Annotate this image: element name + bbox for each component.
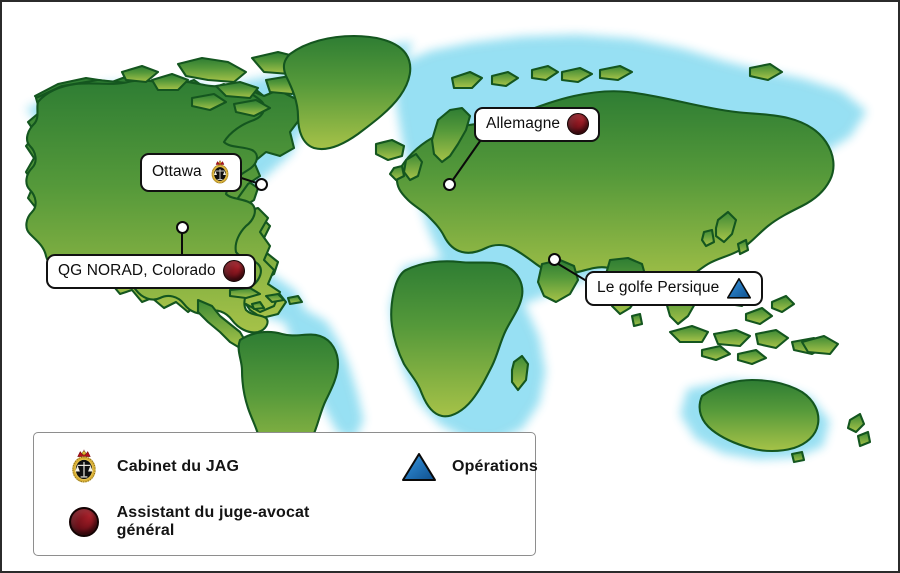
legend-item-operations: Opérations bbox=[369, 452, 538, 482]
iceland bbox=[376, 140, 404, 160]
anchor-dot-norad bbox=[176, 221, 189, 234]
callout-allemagne[interactable]: Allemagne bbox=[474, 107, 600, 142]
blue-triangle-icon bbox=[401, 452, 437, 482]
legend-panel: Cabinet du JAG Opérations Assistant du j… bbox=[33, 432, 536, 556]
callout-label-norad: QG NORAD, Colorado bbox=[58, 263, 216, 279]
crest-icon bbox=[69, 449, 99, 485]
red-sphere-icon bbox=[69, 507, 99, 537]
callout-ottawa[interactable]: Ottawa bbox=[140, 153, 242, 192]
anchor-dot-allemagne bbox=[443, 178, 456, 191]
legend-label-jag-office: Cabinet du JAG bbox=[117, 458, 239, 476]
crest-icon bbox=[209, 159, 231, 185]
legend-item-jag-office: Cabinet du JAG bbox=[34, 449, 369, 485]
legend-label-operations: Opérations bbox=[452, 458, 538, 476]
callout-norad[interactable]: QG NORAD, Colorado bbox=[46, 254, 256, 289]
korea bbox=[702, 230, 714, 246]
sri-lanka bbox=[632, 314, 642, 326]
legend-label-jag-assistant: Assistant du juge-avocat général bbox=[117, 504, 369, 540]
crest-icon-wrap bbox=[66, 449, 102, 485]
blue-triangle-icon-wrap bbox=[401, 452, 437, 482]
anchor-dot-golfe bbox=[548, 253, 561, 266]
red-sphere-icon bbox=[567, 113, 589, 135]
callout-golfe[interactable]: Le golfe Persique bbox=[585, 271, 763, 306]
anchor-dot-ottawa bbox=[255, 178, 268, 191]
callout-label-allemagne: Allemagne bbox=[486, 116, 560, 132]
tasmania bbox=[792, 452, 804, 462]
callout-label-ottawa: Ottawa bbox=[152, 164, 202, 180]
red-sphere-icon bbox=[223, 260, 245, 282]
blue-triangle-icon bbox=[726, 277, 752, 299]
red-sphere-icon-wrap bbox=[66, 507, 102, 537]
callout-label-golfe: Le golfe Persique bbox=[597, 280, 719, 296]
legend-item-jag-assistant: Assistant du juge-avocat général bbox=[34, 504, 369, 540]
world-map-figure: Ottawa bbox=[0, 0, 900, 573]
